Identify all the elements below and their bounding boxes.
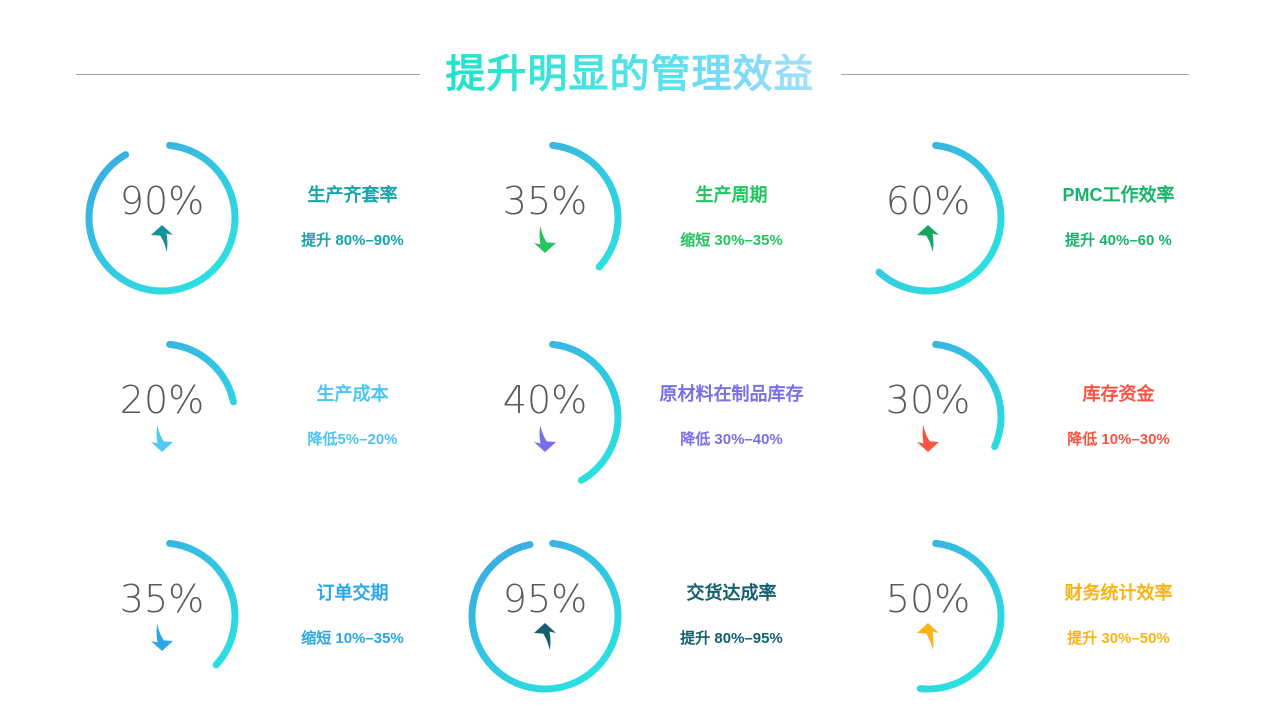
progress-ring: 30%: [848, 337, 1008, 497]
metric-text-block: 原材料在制品库存降低 30%–40%: [625, 384, 834, 450]
progress-ring: 35%: [465, 138, 625, 298]
percent-value: 35%: [503, 182, 587, 220]
percent-value: 40%: [503, 381, 587, 419]
metric-subtitle: 降低5%–20%: [307, 431, 397, 449]
percent-value: 95%: [503, 580, 587, 618]
ring-center-content: 50%: [848, 536, 1008, 696]
metric-title: 生产周期: [696, 185, 768, 207]
ring-center-content: 95%: [465, 536, 625, 696]
arrow-down-icon: [532, 224, 558, 254]
progress-ring: 90%: [82, 138, 242, 298]
ring-center-content: 20%: [82, 337, 242, 497]
metric-cell: 50%财务统计效率提升 30%–50%: [834, 516, 1217, 715]
progress-ring: 60%: [848, 138, 1008, 298]
arrow-down-icon: [149, 423, 175, 453]
metric-cell: 35%订单交期缩短 10%–35%: [68, 516, 451, 715]
ring-center-content: 30%: [848, 337, 1008, 497]
metric-cell: 40%原材料在制品库存降低 30%–40%: [451, 317, 834, 516]
percent-value: 30%: [886, 381, 970, 419]
percent-value: 60%: [886, 182, 970, 220]
metric-subtitle: 提升 80%–90%: [301, 232, 404, 250]
page-title: 提升明显的管理效益: [446, 54, 815, 94]
metric-text-block: 生产周期缩短 30%–35%: [625, 185, 834, 251]
metric-cell: 30%库存资金降低 10%–30%: [834, 317, 1217, 516]
arrow-up-icon: [149, 224, 175, 254]
metrics-grid: 90%生产齐套率提升 80%–90%35%生产周期缩短 30%–35%60%PM…: [68, 118, 1218, 714]
metric-title: 财务统计效率: [1065, 583, 1173, 605]
arrow-down-icon: [915, 423, 941, 453]
metric-subtitle: 提升 30%–50%: [1067, 630, 1170, 648]
ring-center-content: 90%: [82, 138, 242, 298]
metric-cell: 35%生产周期缩短 30%–35%: [451, 118, 834, 317]
metric-title: PMC工作效率: [1063, 185, 1175, 207]
metric-text-block: PMC工作效率提升 40%–60 %: [1008, 185, 1217, 251]
metric-text-block: 财务统计效率提升 30%–50%: [1008, 583, 1217, 649]
progress-ring: 35%: [82, 536, 242, 696]
ring-center-content: 60%: [848, 138, 1008, 298]
ring-center-content: 35%: [82, 536, 242, 696]
arrow-up-icon: [532, 622, 558, 652]
metric-text-block: 交货达成率提升 80%–95%: [625, 583, 834, 649]
progress-ring: 40%: [465, 337, 625, 497]
arrow-up-icon: [915, 622, 941, 652]
progress-ring: 20%: [82, 337, 242, 497]
metric-title: 订单交期: [317, 583, 389, 605]
percent-value: 35%: [120, 580, 204, 618]
progress-ring: 50%: [848, 536, 1008, 696]
metric-cell: 90%生产齐套率提升 80%–90%: [68, 118, 451, 317]
title-rule-right: [841, 74, 1189, 75]
percent-value: 50%: [886, 580, 970, 618]
metric-cell: 60%PMC工作效率提升 40%–60 %: [834, 118, 1217, 317]
percent-value: 20%: [120, 381, 204, 419]
ring-center-content: 35%: [465, 138, 625, 298]
metric-subtitle: 降低 30%–40%: [680, 431, 783, 449]
arrow-down-icon: [149, 622, 175, 652]
title-rule-left: [76, 74, 420, 75]
metric-cell: 20%生产成本降低5%–20%: [68, 317, 451, 516]
metric-text-block: 订单交期缩短 10%–35%: [242, 583, 451, 649]
ring-center-content: 40%: [465, 337, 625, 497]
arrow-down-icon: [532, 423, 558, 453]
metric-subtitle: 缩短 30%–35%: [680, 232, 783, 250]
metric-title: 交货达成率: [687, 583, 777, 605]
metric-title: 生产齐套率: [308, 185, 398, 207]
slide-header: 提升明显的管理效益: [0, 46, 1264, 102]
metric-title: 库存资金: [1083, 384, 1155, 406]
metric-title: 生产成本: [317, 384, 389, 406]
metric-text-block: 生产齐套率提升 80%–90%: [242, 185, 451, 251]
percent-value: 90%: [120, 182, 204, 220]
metric-text-block: 库存资金降低 10%–30%: [1008, 384, 1217, 450]
arrow-up-icon: [915, 224, 941, 254]
metric-subtitle: 缩短 10%–35%: [301, 630, 404, 648]
metric-text-block: 生产成本降低5%–20%: [242, 384, 451, 450]
metric-cell: 95%交货达成率提升 80%–95%: [451, 516, 834, 715]
progress-ring: 95%: [465, 536, 625, 696]
slide-root: 提升明显的管理效益 90%生产齐套率提升 80%–90%35%生产周期缩短 30…: [0, 0, 1264, 710]
metric-subtitle: 降低 10%–30%: [1067, 431, 1170, 449]
metric-title: 原材料在制品库存: [660, 384, 804, 406]
metric-subtitle: 提升 40%–60 %: [1065, 232, 1172, 250]
metric-subtitle: 提升 80%–95%: [680, 630, 783, 648]
